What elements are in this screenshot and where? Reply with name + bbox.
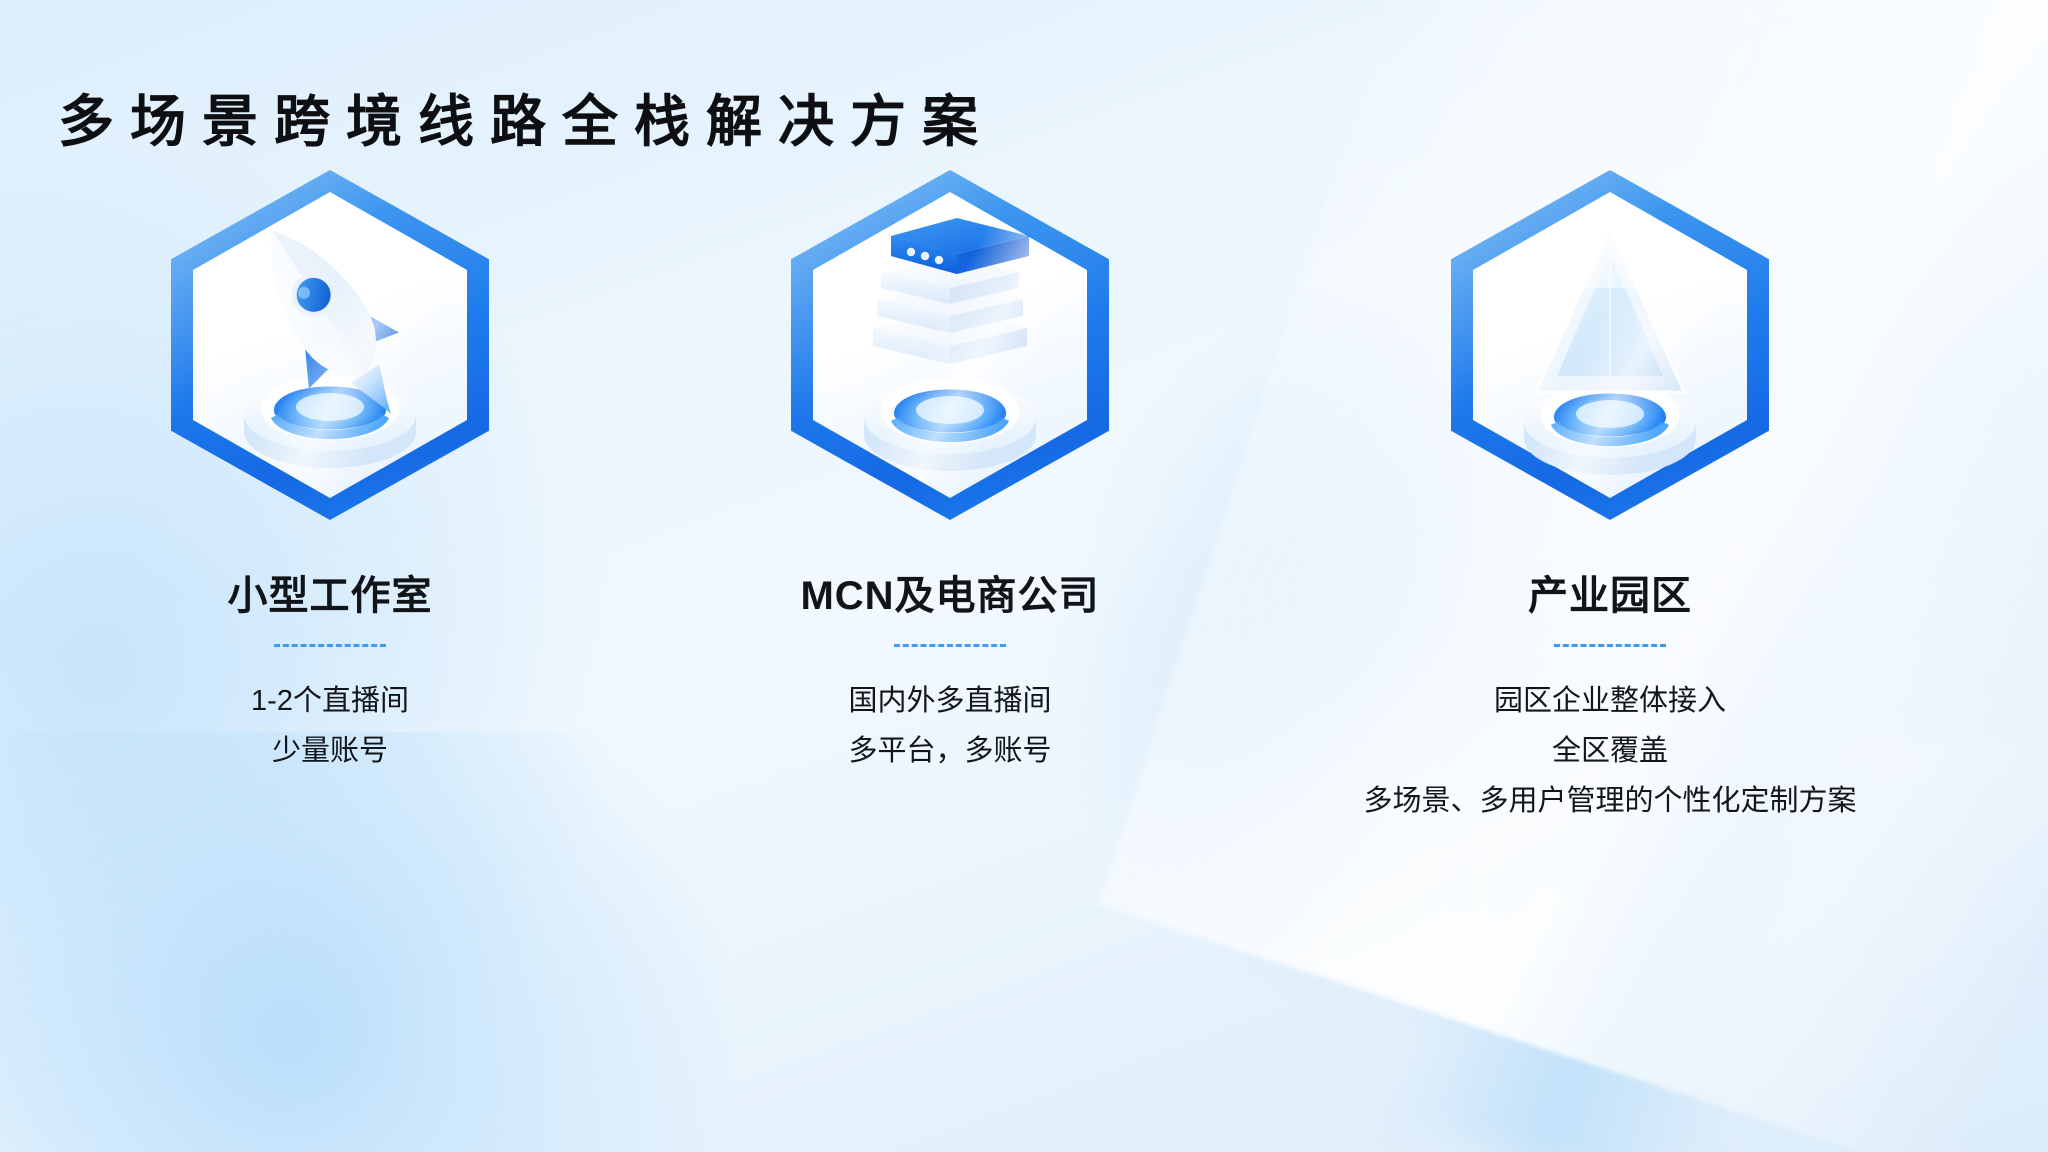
card-description-line: 全区覆盖 [1363, 727, 1856, 777]
rocket-illustration [171, 170, 489, 520]
card-description-line: 1-2个直播间 [251, 677, 409, 727]
card-description-line: 少量账号 [251, 727, 409, 777]
card-title: 产业园区 [1528, 576, 1692, 616]
card-description: 1-2个直播间 少量账号 [251, 677, 409, 777]
card-description-line: 园区企业整体接入 [1363, 677, 1856, 727]
pyramid-hexagon-icon [1451, 170, 1769, 520]
card-description-line: 多场景、多用户管理的个性化定制方案 [1363, 777, 1856, 827]
solution-cards-row: 小型工作室 1-2个直播间 少量账号 [0, 170, 2048, 827]
card-title: 小型工作室 [228, 576, 433, 616]
server-stack-hexagon-icon [791, 170, 1109, 520]
dashed-divider [894, 644, 1006, 647]
server-stack-illustration [791, 170, 1109, 520]
card-title: MCN及电商公司 [800, 576, 1099, 616]
pyramid-illustration [1451, 170, 1769, 520]
card-description: 国内外多直播间 多平台，多账号 [848, 677, 1051, 777]
dashed-divider [1554, 644, 1666, 647]
card-description-line: 国内外多直播间 [848, 677, 1051, 727]
solution-card-industrial-park[interactable]: 产业园区 园区企业整体接入 全区覆盖 多场景、多用户管理的个性化定制方案 [1260, 170, 1960, 827]
solution-card-mcn-ecommerce[interactable]: MCN及电商公司 国内外多直播间 多平台，多账号 [640, 170, 1260, 827]
card-description: 园区企业整体接入 全区覆盖 多场景、多用户管理的个性化定制方案 [1363, 677, 1856, 827]
solution-card-small-studio[interactable]: 小型工作室 1-2个直播间 少量账号 [20, 170, 640, 827]
page-title: 多场景跨境线路全栈解决方案 [58, 90, 994, 154]
rocket-hexagon-icon [171, 170, 489, 520]
card-description-line: 多平台，多账号 [848, 727, 1051, 777]
dashed-divider [274, 644, 386, 647]
